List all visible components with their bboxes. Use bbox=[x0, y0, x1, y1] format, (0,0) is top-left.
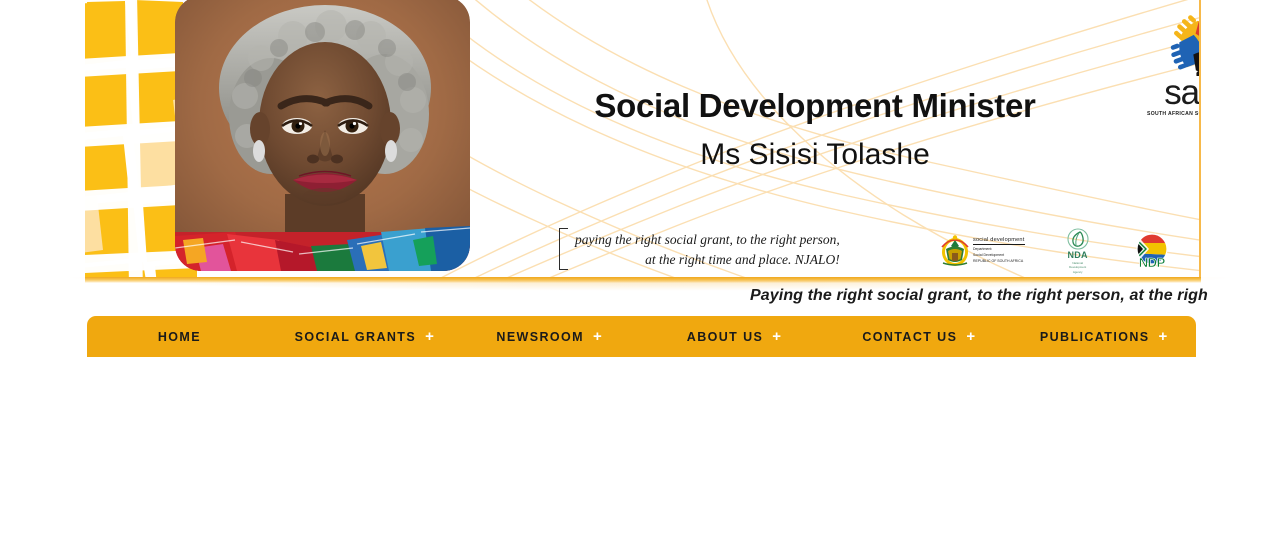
banner-title-block: Social Development Minister Ms Sisisi To… bbox=[485, 88, 1145, 171]
plus-icon[interactable]: + bbox=[966, 329, 975, 344]
nda-title: NDA bbox=[1067, 251, 1087, 260]
site-banner: Social Development Minister Ms Sisisi To… bbox=[85, 0, 1201, 277]
dsd-sub2: Social Development bbox=[973, 253, 1025, 258]
nav-item-social-grants[interactable]: SOCIAL GRANTS + bbox=[272, 316, 457, 357]
nav-label-social-grants: SOCIAL GRANTS bbox=[295, 330, 416, 344]
scrolling-marquee: Paying the right social grant, to the ri… bbox=[85, 286, 1287, 312]
dsd-sub3: REPUBLIC OF SOUTH AFRICA bbox=[973, 259, 1025, 264]
nav-label-publications: PUBLICATIONS bbox=[1040, 330, 1150, 344]
plus-icon[interactable]: + bbox=[772, 329, 781, 344]
page-content-area bbox=[0, 357, 1287, 554]
nda-leaf-icon bbox=[1067, 228, 1089, 250]
plus-icon[interactable]: + bbox=[1158, 329, 1167, 344]
nav-item-about-us[interactable]: ABOUT US + bbox=[641, 316, 826, 357]
nav-label-home: HOME bbox=[158, 330, 201, 344]
bracket-decoration bbox=[559, 228, 568, 270]
nav-label-about-us: ABOUT US bbox=[687, 330, 763, 344]
partner-logos: social development Department: Social De… bbox=[940, 228, 1201, 274]
nav-label-contact-us: CONTACT US bbox=[862, 330, 957, 344]
page-root: Social Development Minister Ms Sisisi To… bbox=[0, 0, 1287, 554]
nav-item-home[interactable]: HOME + bbox=[87, 316, 272, 357]
ndp-title: NDP bbox=[1131, 256, 1173, 269]
sassa-tagline: SOUTH AFRICAN SOCIAL SECURITY AGENCY bbox=[1147, 111, 1201, 117]
nda-sub: National Development Agency bbox=[1069, 261, 1086, 273]
slogan-line-1: paying the right social grant, to the ri… bbox=[575, 230, 840, 250]
plus-icon[interactable]: + bbox=[593, 329, 602, 344]
plus-icon[interactable]: + bbox=[425, 329, 434, 344]
nav-item-publications[interactable]: PUBLICATIONS + bbox=[1011, 316, 1196, 357]
slogan-line-2: at the right time and place. NJALO! bbox=[575, 250, 840, 270]
sassa-wordmark: sassa bbox=[1147, 77, 1201, 109]
dsd-title: social development bbox=[973, 238, 1025, 246]
nav-item-newsroom[interactable]: NEWSROOM + bbox=[457, 316, 642, 357]
sa-coat-of-arms-icon bbox=[940, 235, 970, 267]
main-navigation: HOME + SOCIAL GRANTS + NEWSROOM + ABOUT … bbox=[87, 316, 1196, 357]
slogan-text: paying the right social grant, to the ri… bbox=[575, 228, 840, 270]
page-title: Social Development Minister bbox=[485, 88, 1145, 124]
minister-portrait bbox=[175, 0, 470, 271]
sassa-logo[interactable]: sassa SOUTH AFRICAN SOCIAL SECURITY AGEN… bbox=[1147, 14, 1201, 117]
partner-social-development[interactable]: social development Department: Social De… bbox=[940, 235, 1025, 267]
partner-ndp[interactable]: NDP bbox=[1131, 233, 1173, 269]
marquee-text: Paying the right social grant, to the ri… bbox=[750, 287, 1208, 305]
sassa-hands-icon bbox=[1163, 14, 1201, 76]
page-subtitle: Ms Sisisi Tolashe bbox=[485, 138, 1145, 171]
nav-label-newsroom: NEWSROOM bbox=[496, 330, 584, 344]
dsd-sub1: Department: bbox=[973, 247, 1025, 252]
nav-item-contact-us[interactable]: CONTACT US + bbox=[826, 316, 1011, 357]
partner-nda[interactable]: NDA National Development Agency bbox=[1067, 228, 1089, 273]
banner-slogan: paying the right social grant, to the ri… bbox=[559, 228, 840, 270]
